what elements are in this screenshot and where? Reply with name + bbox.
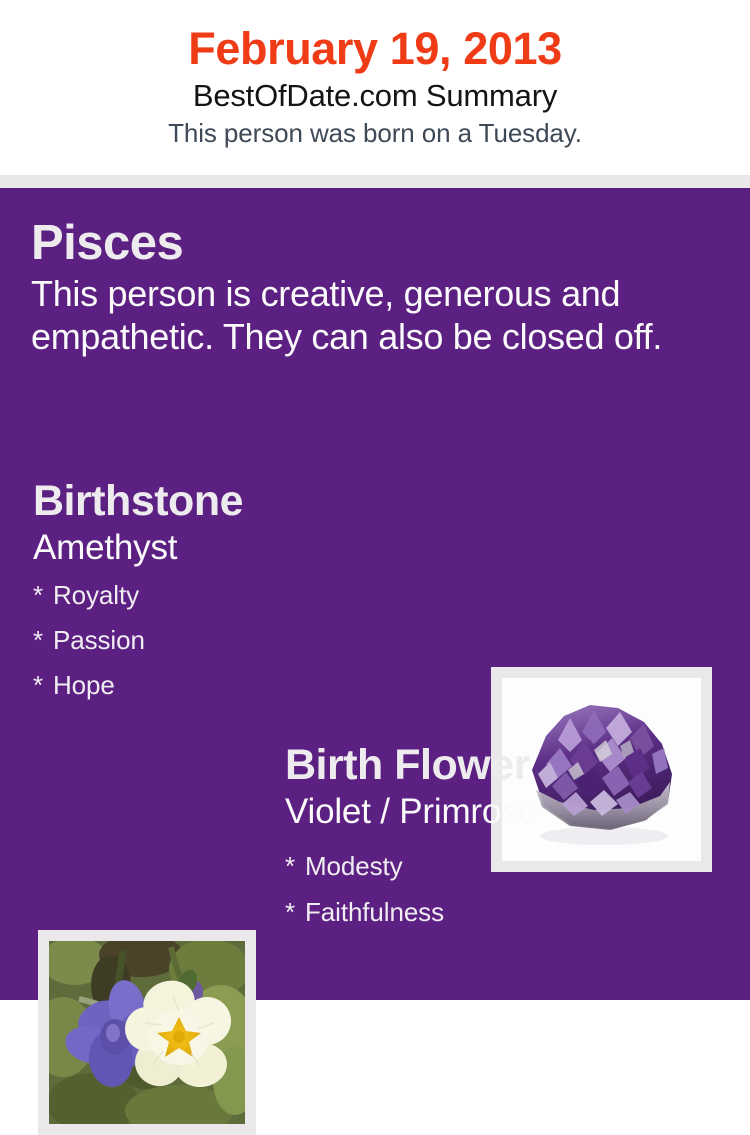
summary-page: February 19, 2013 BestOfDate.com Summary…	[0, 0, 750, 1000]
birth-flower-section: Birth Flower Violet / Primrose *Modesty …	[285, 739, 715, 935]
page-title-date: February 19, 2013	[0, 22, 750, 76]
header-divider	[0, 175, 750, 188]
list-item: *Royalty	[33, 573, 463, 618]
zodiac-description: This person is creative, generous and em…	[31, 272, 711, 358]
bullet-marker-icon: *	[33, 573, 53, 618]
birthstone-trait-label: Passion	[53, 625, 145, 655]
page-header: February 19, 2013 BestOfDate.com Summary…	[0, 0, 750, 175]
birth-flower-heading: Birth Flower	[285, 739, 715, 791]
bullet-marker-icon: *	[33, 663, 53, 708]
birthstone-section: Birthstone Amethyst *Royalty *Passion *H…	[33, 475, 463, 708]
zodiac-section: Pisces This person is creative, generous…	[31, 214, 721, 358]
list-item: *Hope	[33, 663, 463, 708]
bullet-marker-icon: *	[285, 889, 305, 935]
birthstone-heading: Birthstone	[33, 475, 463, 527]
site-summary-label: BestOfDate.com Summary	[0, 76, 750, 116]
birth-flower-name: Violet / Primrose	[285, 791, 715, 833]
list-item: *Faithfulness	[285, 889, 715, 935]
bullet-marker-icon: *	[285, 843, 305, 889]
list-item: *Modesty	[285, 843, 715, 889]
violet-primrose-photo	[49, 941, 245, 1124]
bullet-marker-icon: *	[33, 618, 53, 663]
violet-and-primrose-flower-icon	[49, 941, 245, 1124]
birth-flower-trait-list: *Modesty *Faithfulness	[285, 843, 715, 935]
birth-flower-image-frame	[38, 930, 256, 1135]
birthstone-name: Amethyst	[33, 527, 463, 569]
birthstone-trait-label: Hope	[53, 670, 115, 700]
zodiac-sign-name: Pisces	[31, 214, 721, 272]
birthstone-trait-label: Royalty	[53, 580, 139, 610]
weekday-statement: This person was born on a Tuesday.	[0, 116, 750, 150]
birth-flower-trait-label: Faithfulness	[305, 897, 444, 927]
list-item: *Passion	[33, 618, 463, 663]
birth-flower-trait-label: Modesty	[305, 851, 403, 881]
birthstone-trait-list: *Royalty *Passion *Hope	[33, 573, 463, 708]
summary-panel: Pisces This person is creative, generous…	[0, 188, 750, 1000]
